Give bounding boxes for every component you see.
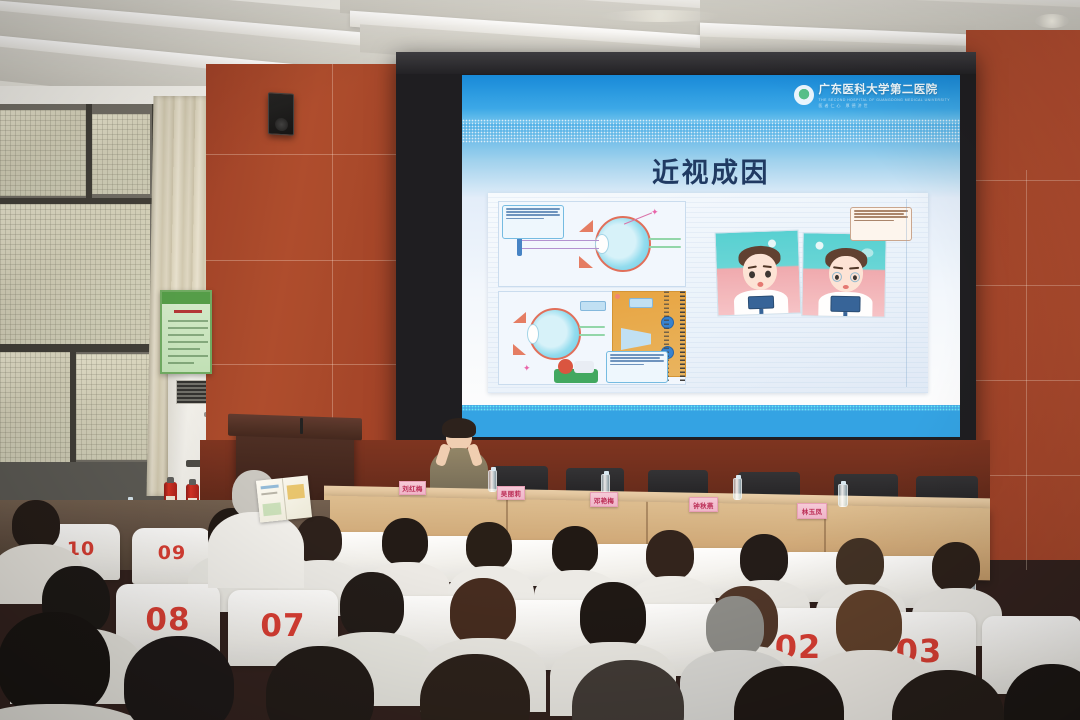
placard-name: 林玉凤 [802,506,822,516]
label-screen: 屏幕 [629,298,653,308]
name-placard: 邓艳梅 [590,492,618,507]
hospital-tagline: 医者仁心 厚德济世 [819,103,950,109]
water-bottle[interactable] [733,478,742,500]
audience-member [236,646,404,720]
slide-title: 近视成因 [462,151,960,190]
name-placard: 吴丽莉 [497,486,525,500]
tablet-icon [830,296,860,313]
hospital-seal-icon [794,85,814,105]
audience-member [700,666,872,720]
microphone-icon [300,418,303,434]
hospital-logo: 广东医科大学第二医院 THE SECOND HOSPITAL OF GUANGD… [794,81,950,109]
child-panel-right [801,232,886,317]
ceiling-light-icon [1035,14,1069,28]
ceiling-light-icon [600,10,720,22]
caption-bubble-right: 学龄前儿童过早、过多接触电子产品，是近视的发生的重要原因。 [850,207,912,241]
placard-name: 邓艳梅 [594,495,614,505]
slide-content: 广东医科大学第二医院 THE SECOND HOSPITAL OF GUANGD… [462,75,960,437]
placard-name: 刘红梅 [402,483,422,493]
placard-name: 吴丽莉 [501,488,521,498]
notice-board[interactable] [160,290,212,374]
audience-member [388,654,558,720]
caption-bubble-bottom: 视网膜成像模糊的图片，对焦不准确就会出现没有明确清晰。 [606,351,668,383]
wall-speaker-icon [268,92,294,135]
name-placard: 钟秋燕 [689,497,718,512]
water-bottle[interactable] [488,470,497,492]
hospital-name-en: THE SECOND HOSPITAL OF GUANGDONG MEDICAL… [819,98,950,102]
screen-top-bezel [396,52,976,74]
audience-member [540,660,712,720]
slide-artwork: ✦ 近视是指眼在调节放松状态下，平行光线经眼屈光系统后，焦点落在视网膜之前。 [488,193,928,393]
name-placard: 林玉凤 [797,503,827,519]
presenter [428,422,490,494]
tablet-icon [748,295,774,309]
pamphlet [256,475,312,522]
caption-bubble-top: 近视是指眼在调节放松状态下，平行光线经眼屈光系统后，焦点落在视网膜之前。 [502,205,564,239]
name-placard: 刘红梅 [399,481,426,495]
water-bottle[interactable] [838,484,848,507]
label-blur-image: 模糊像 [580,301,606,311]
placard-name: 钟秋燕 [693,500,713,510]
child-panel-left [715,230,802,317]
lecture-hall-photo: 广东医科大学第二医院 THE SECOND HOSPITAL OF GUANGD… [0,0,1080,720]
audience-member [988,664,1080,720]
hospital-name-cn: 广东医科大学第二医院 [819,81,950,97]
